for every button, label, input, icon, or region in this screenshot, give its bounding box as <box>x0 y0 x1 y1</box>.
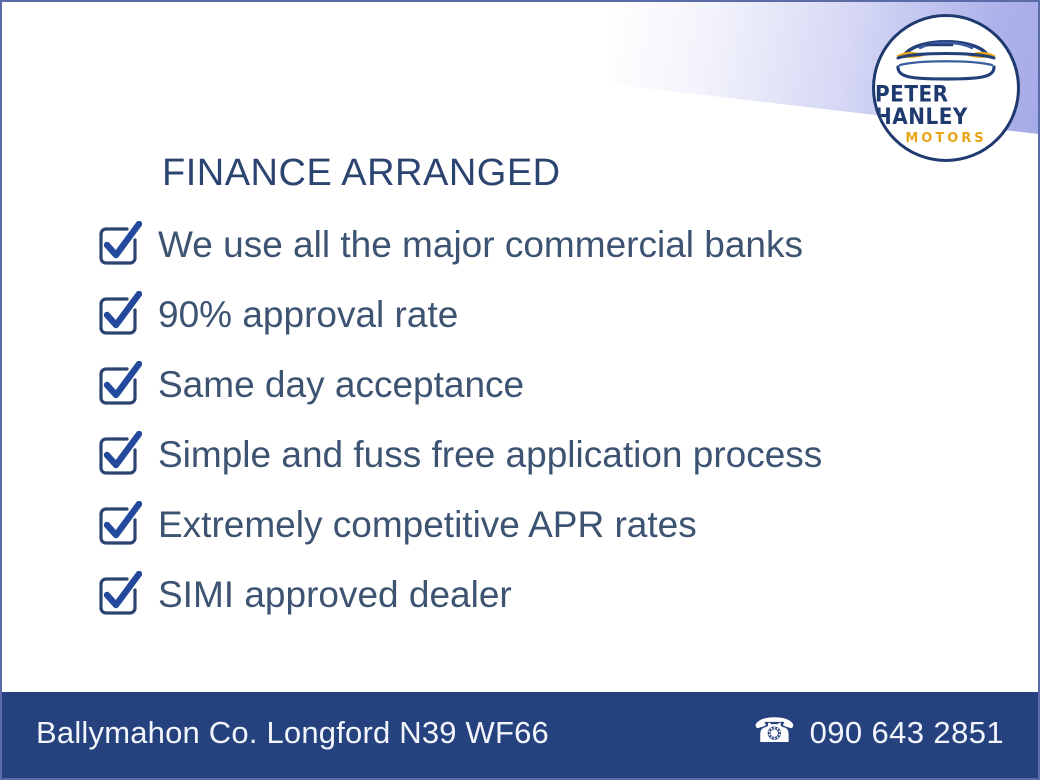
checked-checkbox-icon <box>94 501 142 549</box>
list-item: Same day acceptance <box>94 350 998 420</box>
list-item-label: Extremely competitive APR rates <box>158 506 697 545</box>
list-item: SIMI approved dealer <box>94 560 998 630</box>
phone-contact[interactable]: ☎ 090 643 2851 <box>753 715 1004 751</box>
dealer-address: Ballymahon Co. Longford N39 WF66 <box>36 715 549 751</box>
checked-checkbox-icon <box>94 221 142 269</box>
list-item-label: We use all the major commercial banks <box>158 226 803 265</box>
phone-number: 090 643 2851 <box>810 715 1004 751</box>
checked-checkbox-icon <box>94 291 142 339</box>
list-item: 90% approval rate <box>94 280 998 350</box>
checked-checkbox-icon <box>94 361 142 409</box>
logo-subtitle-text: MOTORS <box>905 132 986 145</box>
telephone-icon: ☎ <box>753 714 795 748</box>
list-item: Extremely competitive APR rates <box>94 490 998 560</box>
list-item-label: Simple and fuss free application process <box>158 436 822 475</box>
list-item-label: Same day acceptance <box>158 366 524 405</box>
list-item-label: SIMI approved dealer <box>158 576 512 615</box>
footer-contact-bar: Ballymahon Co. Longford N39 WF66 ☎ 090 6… <box>2 692 1038 778</box>
page-title: FINANCE ARRANGED <box>162 152 561 195</box>
peter-hanley-motors-logo[interactable]: PETER HANLEY MOTORS <box>872 14 1020 162</box>
finance-ad-card: PETER HANLEY MOTORS FINANCE ARRANGED We … <box>0 0 1040 780</box>
logo-name-text: PETER HANLEY <box>875 82 1017 127</box>
car-front-icon <box>890 34 1002 82</box>
list-item: We use all the major commercial banks <box>94 210 998 280</box>
feature-list: We use all the major commercial banks 90… <box>94 210 998 630</box>
list-item: Simple and fuss free application process <box>94 420 998 490</box>
list-item-label: 90% approval rate <box>158 296 458 335</box>
checked-checkbox-icon <box>94 571 142 619</box>
checked-checkbox-icon <box>94 431 142 479</box>
